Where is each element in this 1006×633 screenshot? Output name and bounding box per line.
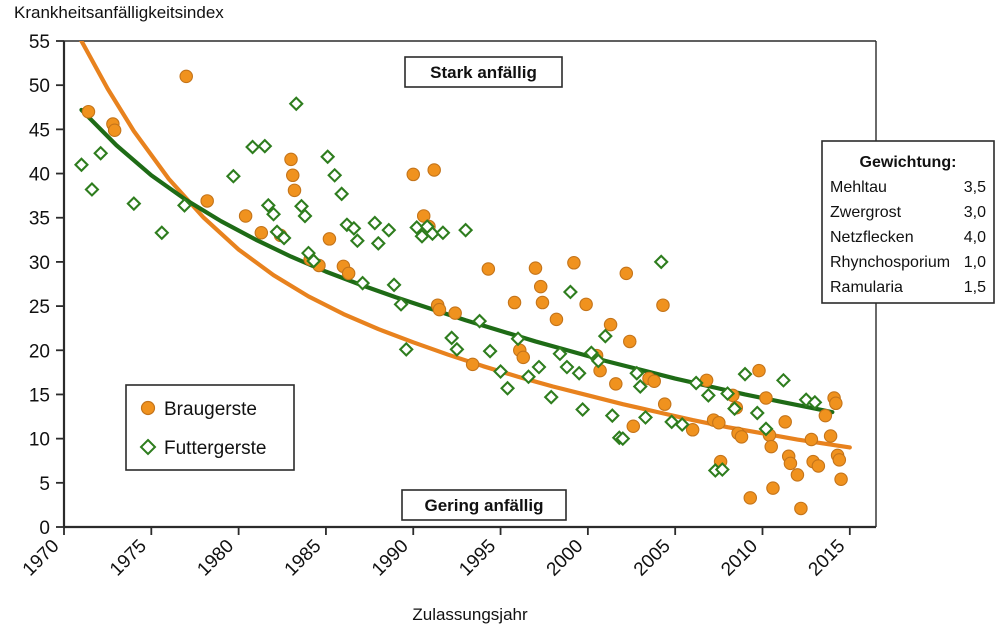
data-point bbox=[285, 153, 297, 165]
y-tick-label: 25 bbox=[29, 297, 50, 318]
data-point bbox=[545, 391, 557, 403]
data-point bbox=[760, 392, 772, 404]
x-axis-title: Zulassungsjahr bbox=[412, 605, 528, 624]
x-tick-label: 1975 bbox=[106, 536, 151, 581]
data-point bbox=[777, 374, 789, 386]
data-point bbox=[451, 343, 463, 355]
data-point bbox=[529, 262, 541, 274]
data-point bbox=[288, 184, 300, 196]
data-point bbox=[702, 389, 714, 401]
data-point bbox=[342, 267, 354, 279]
y-tick-label: 35 bbox=[29, 209, 50, 230]
y-tick-label: 55 bbox=[29, 32, 50, 53]
weighting-row-name: Zwergrost bbox=[830, 204, 902, 221]
data-point bbox=[564, 286, 576, 298]
data-point bbox=[322, 151, 334, 163]
data-point bbox=[75, 159, 87, 171]
x-tick-label: 2000 bbox=[543, 536, 588, 581]
data-point bbox=[604, 318, 616, 330]
data-point bbox=[568, 257, 580, 269]
y-axis-ticks: 0510152025303540455055 bbox=[29, 32, 64, 539]
x-axis-ticks: 1970197519801985199019952000200520102015 bbox=[19, 527, 850, 580]
data-point bbox=[535, 280, 547, 292]
data-point bbox=[323, 233, 335, 245]
x-tick-label: 1990 bbox=[368, 536, 413, 581]
data-point bbox=[819, 409, 831, 421]
weighting-row-name: Netzflecken bbox=[830, 229, 914, 246]
weighting-row-name: Ramularia bbox=[830, 279, 903, 296]
y-tick-label: 30 bbox=[29, 253, 50, 274]
y-tick-label: 5 bbox=[39, 474, 50, 495]
chart-container: Krankheitsanfälligkeitsindex 05101520253… bbox=[0, 0, 1006, 633]
data-point bbox=[156, 227, 168, 239]
data-point bbox=[784, 457, 796, 469]
data-point bbox=[428, 164, 440, 176]
data-point bbox=[259, 140, 271, 152]
data-point bbox=[767, 482, 779, 494]
data-point bbox=[128, 198, 140, 210]
weighting-box-title: Gewichtung: bbox=[860, 154, 957, 171]
data-point bbox=[812, 460, 824, 472]
data-point bbox=[833, 454, 845, 466]
data-point bbox=[700, 374, 712, 386]
data-point bbox=[247, 141, 259, 153]
data-point bbox=[805, 433, 817, 445]
weighting-box: Gewichtung: Mehltau3,5Zwergrost3,0Netzfl… bbox=[822, 141, 994, 303]
data-point bbox=[779, 416, 791, 428]
x-tick-label: 2005 bbox=[630, 536, 675, 581]
legend-label-futtergerste: Futtergerste bbox=[164, 438, 266, 459]
data-point bbox=[624, 335, 636, 347]
weighting-row-value: 1,5 bbox=[964, 279, 986, 296]
data-point bbox=[433, 303, 445, 315]
data-point bbox=[502, 382, 514, 394]
y-tick-label: 15 bbox=[29, 385, 50, 406]
data-point bbox=[86, 183, 98, 195]
data-point bbox=[795, 502, 807, 514]
weighting-row-value: 4,0 bbox=[964, 229, 986, 246]
data-point bbox=[735, 431, 747, 443]
data-point bbox=[82, 105, 94, 117]
data-point bbox=[824, 430, 836, 442]
data-point bbox=[599, 330, 611, 342]
y-tick-label: 45 bbox=[29, 120, 50, 141]
data-point bbox=[561, 361, 573, 373]
data-point bbox=[351, 235, 363, 247]
data-point bbox=[95, 147, 107, 159]
x-tick-label: 1970 bbox=[19, 536, 64, 581]
data-point bbox=[580, 298, 592, 310]
data-point bbox=[329, 169, 341, 181]
data-point bbox=[655, 256, 667, 268]
data-point bbox=[648, 375, 660, 387]
data-point bbox=[517, 351, 529, 363]
data-point bbox=[606, 410, 618, 422]
data-point bbox=[577, 403, 589, 415]
scatter-chart: Krankheitsanfälligkeitsindex 05101520253… bbox=[0, 0, 1006, 633]
data-point bbox=[227, 170, 239, 182]
data-point bbox=[400, 343, 412, 355]
weighting-row-value: 3,5 bbox=[964, 179, 986, 196]
data-point bbox=[573, 367, 585, 379]
x-tick-label: 1995 bbox=[455, 536, 500, 581]
data-point bbox=[255, 227, 267, 239]
data-point bbox=[830, 397, 842, 409]
data-point bbox=[533, 361, 545, 373]
data-point bbox=[484, 345, 496, 357]
data-point bbox=[449, 307, 461, 319]
data-point bbox=[765, 440, 777, 452]
data-point bbox=[369, 217, 381, 229]
data-point bbox=[108, 124, 120, 136]
data-point bbox=[383, 224, 395, 236]
data-point bbox=[372, 237, 384, 249]
data-point bbox=[835, 473, 847, 485]
y-tick-label: 40 bbox=[29, 165, 50, 186]
data-point bbox=[550, 313, 562, 325]
x-tick-label: 2010 bbox=[717, 536, 762, 581]
data-point bbox=[751, 407, 763, 419]
data-point bbox=[620, 267, 632, 279]
legend-marker-braugerste bbox=[142, 402, 155, 415]
data-point bbox=[713, 417, 725, 429]
y-axis-title: Krankheitsanfälligkeitsindex bbox=[14, 3, 224, 22]
data-point bbox=[753, 364, 765, 376]
data-point bbox=[437, 227, 449, 239]
trendline-futtergerste-trend bbox=[81, 110, 832, 412]
y-tick-label: 20 bbox=[29, 341, 50, 362]
data-point bbox=[640, 411, 652, 423]
data-point bbox=[610, 378, 622, 390]
data-point bbox=[508, 296, 520, 308]
data-point bbox=[290, 98, 302, 110]
annotation-label-top-box: Stark anfällig bbox=[430, 63, 537, 82]
y-tick-label: 50 bbox=[29, 76, 50, 97]
x-tick-label: 1980 bbox=[193, 536, 238, 581]
data-point bbox=[791, 469, 803, 481]
data-point bbox=[536, 296, 548, 308]
weighting-row-name: Mehltau bbox=[830, 179, 887, 196]
legend-label-braugerste: Braugerste bbox=[164, 399, 257, 420]
data-point bbox=[744, 492, 756, 504]
data-point bbox=[659, 398, 671, 410]
data-point bbox=[482, 263, 494, 275]
data-point bbox=[201, 195, 213, 207]
y-tick-label: 10 bbox=[29, 430, 50, 451]
x-tick-label: 2015 bbox=[805, 536, 850, 581]
data-point bbox=[287, 169, 299, 181]
data-point bbox=[739, 368, 751, 380]
data-point bbox=[627, 420, 639, 432]
weighting-row-name: Rhynchosporium bbox=[830, 254, 950, 271]
data-point bbox=[180, 70, 192, 82]
annotation-label-bottom-box: Gering anfällig bbox=[424, 496, 543, 515]
data-point bbox=[336, 188, 348, 200]
data-point bbox=[388, 279, 400, 291]
data-point bbox=[460, 224, 472, 236]
weighting-row-value: 3,0 bbox=[964, 204, 986, 221]
data-point bbox=[495, 365, 507, 377]
data-point bbox=[407, 168, 419, 180]
data-point bbox=[657, 299, 669, 311]
data-point bbox=[446, 332, 458, 344]
data-point bbox=[466, 358, 478, 370]
x-tick-label: 1985 bbox=[281, 536, 326, 581]
series-legend: Braugerste Futtergerste bbox=[126, 385, 294, 470]
data-point bbox=[239, 210, 251, 222]
weighting-row-value: 1,0 bbox=[964, 254, 986, 271]
